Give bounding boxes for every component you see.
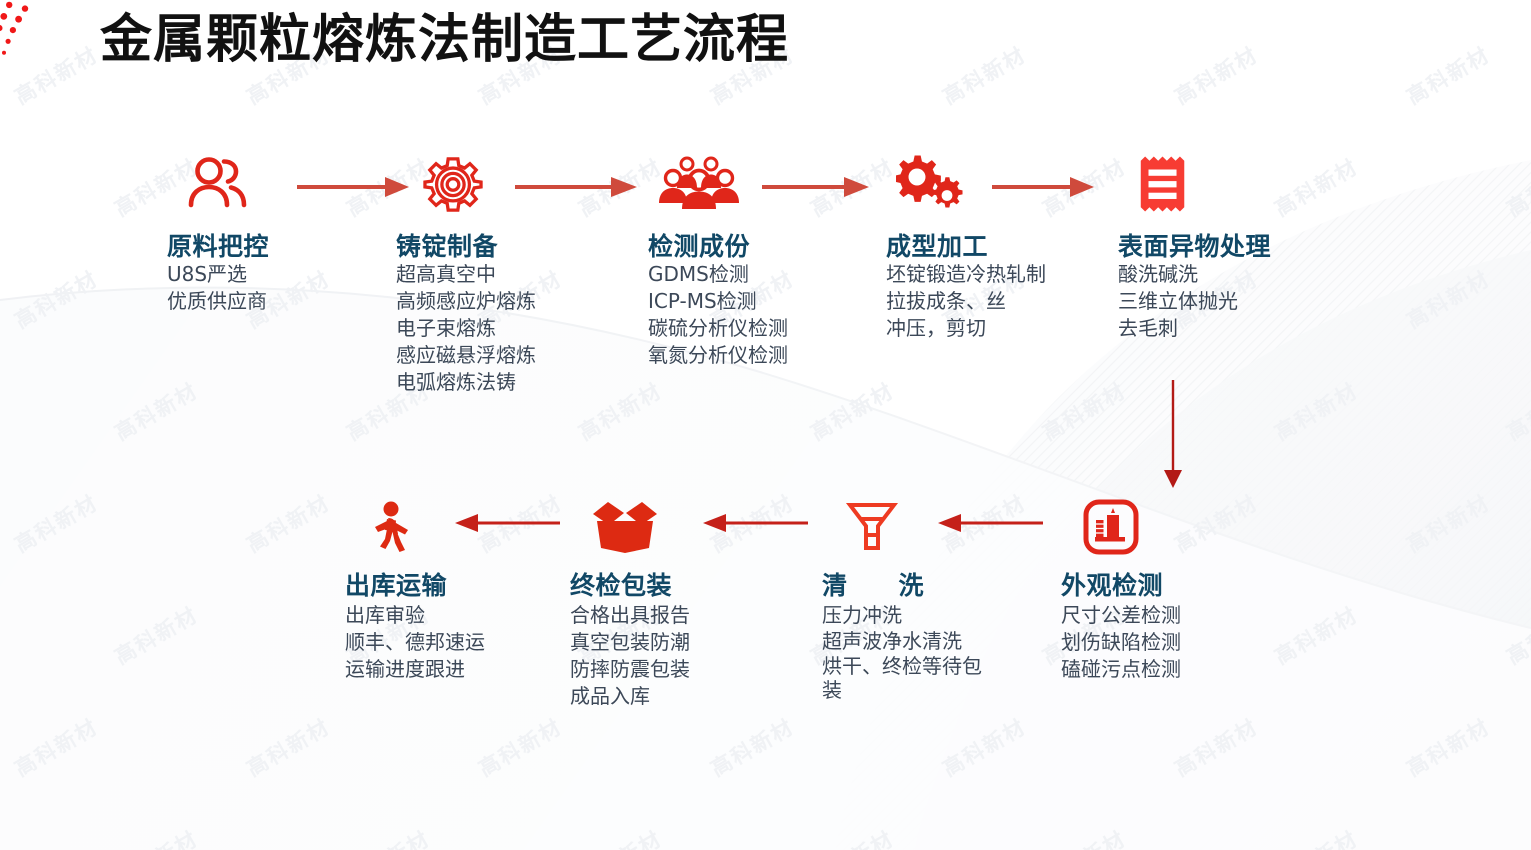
arrow-step6-to-step7 — [935, 508, 1045, 538]
flow-step-4-lines: 坯锭锻造冷热轧制 拉拔成条、丝 冲压，剪切 — [886, 261, 1046, 342]
arrow-step2-to-step3 — [513, 170, 643, 204]
gear-icon — [421, 155, 485, 213]
flow-step-9-lines: 出库审验 顺丰、德邦速运 运输进度跟进 — [345, 602, 485, 683]
arrow-step5-to-step6 — [1155, 380, 1191, 490]
flow-step-8-lines: 合格出具报告 真空包装防潮 防摔防震包装 成品入库 — [570, 602, 690, 710]
flow-step-2-line-5: 电弧熔炼法铸 — [396, 369, 536, 396]
flow-step-5-line-2: 三维立体抛光 — [1118, 288, 1238, 315]
walking-person-icon — [363, 498, 417, 556]
process-flow-diagram: 原料把控 U8S严选 优质供应商 铸锭制备 超高真空中 高频感应炉熔炼 电子束熔… — [0, 0, 1531, 850]
flow-step-4-title: 成型加工 — [886, 227, 988, 263]
flow-step-6-line-3: 磕碰污点检测 — [1061, 656, 1181, 683]
flow-step-5-line-1: 酸洗碱洗 — [1118, 261, 1238, 288]
flow-step-3-line-3: 碳硫分析仪检测 — [648, 315, 788, 342]
people-group-icon — [656, 155, 742, 213]
arrow-step3-to-step4 — [760, 170, 875, 204]
flow-step-6-lines: 尺寸公差检测 划伤缺陷检测 磕碰污点检测 — [1061, 602, 1181, 683]
flow-step-1-lines: U8S严选 优质供应商 — [167, 261, 267, 315]
flow-step-1-line-1: U8S严选 — [167, 261, 267, 288]
flow-step-2-line-2: 高频感应炉熔炼 — [396, 288, 536, 315]
flow-step-7-title: 清 洗 — [822, 566, 924, 602]
flow-step-8-line-1: 合格出具报告 — [570, 602, 690, 629]
flow-step-4-line-3: 冲压，剪切 — [886, 315, 1046, 342]
flow-step-9-line-2: 顺丰、德邦速运 — [345, 629, 485, 656]
arrow-step7-to-step8 — [700, 508, 810, 538]
flow-step-1-line-2: 优质供应商 — [167, 288, 267, 315]
flow-step-8-line-3: 防摔防震包装 — [570, 656, 690, 683]
flow-step-2-line-3: 电子束熔炼 — [396, 315, 536, 342]
flow-step-2-title: 铸锭制备 — [396, 227, 498, 263]
flow-step-8-line-2: 真空包装防潮 — [570, 629, 690, 656]
flow-step-6-line-2: 划伤缺陷检测 — [1061, 629, 1181, 656]
flow-step-6-title: 外观检测 — [1061, 566, 1163, 602]
flow-step-1-title: 原料把控 — [167, 227, 269, 263]
flow-step-7-line-2: 超声波净水清洗 — [822, 628, 982, 654]
flow-step-7-line-1: 压力冲洗 — [822, 602, 982, 628]
flow-step-2-lines: 超高真空中 高频感应炉熔炼 电子束熔炼 感应磁悬浮熔炼 电弧熔炼法铸 — [396, 261, 536, 396]
flow-step-5-title: 表面异物处理 — [1118, 227, 1271, 263]
flow-step-3-title: 检测成份 — [648, 227, 750, 263]
receipt-icon — [1136, 155, 1190, 213]
flow-step-8-title: 终检包装 — [570, 566, 672, 602]
flow-step-3-line-2: ICP-MS检测 — [648, 288, 788, 315]
flow-step-7-lines: 压力冲洗 超声波净水清洗 烘干、终检等待包装 — [822, 602, 982, 702]
flow-step-3-line-1: GDMS检测 — [648, 261, 788, 288]
flow-step-9-title: 出库运输 — [345, 566, 447, 602]
arrow-step4-to-step5 — [990, 170, 1100, 204]
two-users-icon — [184, 155, 250, 213]
flow-step-8-line-4: 成品入库 — [570, 683, 690, 710]
flow-step-5-lines: 酸洗碱洗 三维立体抛光 去毛刺 — [1118, 261, 1238, 342]
flow-step-4-line-2: 拉拔成条、丝 — [886, 288, 1046, 315]
flow-step-6-line-1: 尺寸公差检测 — [1061, 602, 1181, 629]
flow-step-2-line-1: 超高真空中 — [396, 261, 536, 288]
flow-step-7-line-3: 烘干、终检等待包装 — [822, 654, 982, 702]
flow-step-3-lines: GDMS检测 ICP-MS检测 碳硫分析仪检测 氧氮分析仪检测 — [648, 261, 788, 369]
flow-step-5-line-3: 去毛刺 — [1118, 315, 1238, 342]
factory-inspection-icon — [1083, 498, 1139, 556]
funnel-icon — [845, 498, 899, 556]
flow-step-9-line-1: 出库审验 — [345, 602, 485, 629]
arrow-step8-to-step9 — [452, 508, 562, 538]
open-box-icon — [591, 498, 659, 556]
flow-step-2-line-4: 感应磁悬浮熔炼 — [396, 342, 536, 369]
flow-step-9-line-3: 运输进度跟进 — [345, 656, 485, 683]
flow-step-4-line-1: 坯锭锻造冷热轧制 — [886, 261, 1046, 288]
flow-step-3-line-4: 氧氮分析仪检测 — [648, 342, 788, 369]
two-gears-icon — [896, 155, 968, 213]
arrow-step1-to-step2 — [295, 170, 415, 204]
